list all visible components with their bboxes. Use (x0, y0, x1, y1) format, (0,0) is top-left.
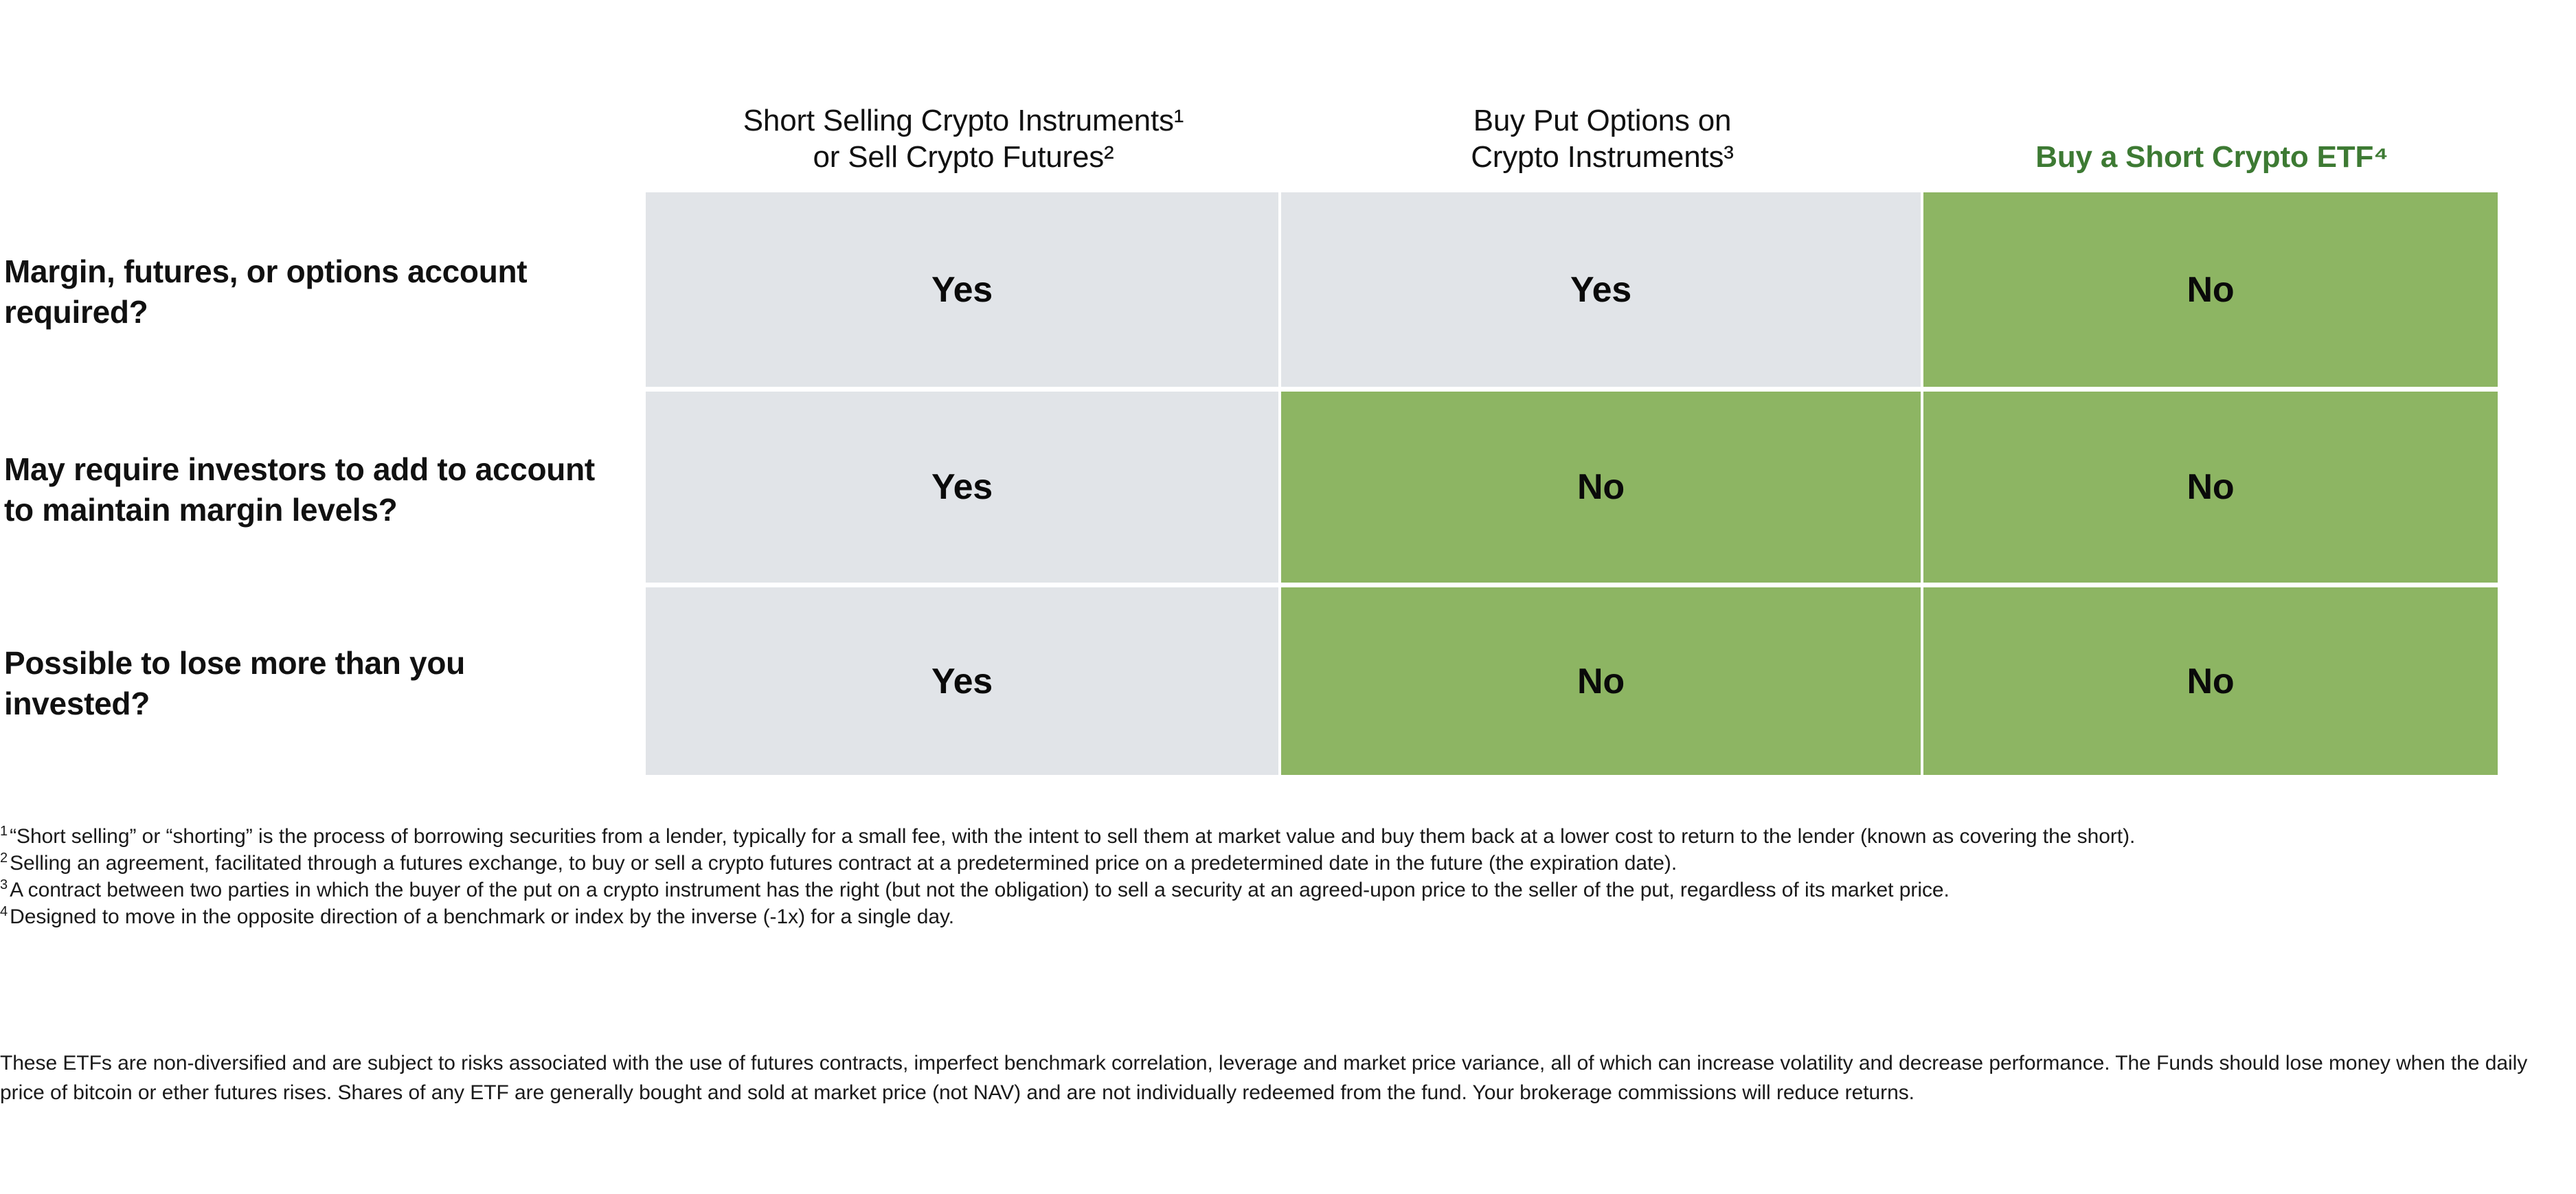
table-cell: No (1923, 192, 2498, 387)
row-label-text: May require investors to add to account … (4, 449, 605, 530)
row-label-account-required: Margin, futures, or options account requ… (0, 192, 646, 392)
table-grid: Short Selling Crypto Instruments¹ or Sel… (0, 0, 2500, 780)
row-label-text: Possible to lose more than you invested? (4, 643, 605, 724)
table-cell: No (1923, 392, 2498, 583)
cell-value: Yes (931, 466, 993, 508)
cell-value: Yes (1570, 269, 1631, 311)
disclaimer-paragraph: These ETFs are non-diversified and are s… (0, 1049, 2555, 1107)
footnote-text: Selling an agreement, facilitated throug… (10, 852, 1677, 875)
cell-value: No (2187, 466, 2235, 508)
row-label-add-to-account: May require investors to add to account … (0, 392, 646, 587)
column-header-put-options: Buy Put Options on Crypto Instruments³ (1281, 0, 1923, 192)
table-cell: Yes (646, 587, 1278, 775)
table-cell: Yes (646, 392, 1278, 583)
footnote-item: 1“Short selling” or “shorting” is the pr… (0, 823, 2576, 850)
cell-value: No (1577, 466, 1625, 508)
table-cell: No (1281, 587, 1921, 775)
row-label-lose-more: Possible to lose more than you invested? (0, 587, 646, 780)
column-header-label: Short Selling Crypto Instruments¹ or Sel… (743, 102, 1184, 176)
footnote-text: “Short selling” or “shorting” is the pro… (10, 825, 2135, 848)
row-label-text: Margin, futures, or options account requ… (4, 251, 605, 333)
cell-value: No (1577, 661, 1625, 702)
column-header-label: Buy a Short Crypto ETF⁴ (2035, 139, 2388, 176)
footnote-marker: 1 (0, 824, 10, 839)
footnote-text: Designed to move in the opposite directi… (10, 905, 954, 928)
cell-value: No (2187, 269, 2235, 311)
footnote-marker: 3 (0, 877, 10, 892)
table-cell: Yes (1281, 192, 1921, 387)
footnote-marker: 2 (0, 851, 10, 866)
footnote-item: 3A contract between two parties in which… (0, 877, 2576, 903)
table-corner-spacer (0, 0, 646, 192)
footnotes-list: 1“Short selling” or “shorting” is the pr… (0, 823, 2576, 930)
table-cell: Yes (646, 192, 1278, 387)
footnote-marker: 4 (0, 904, 10, 919)
footnote-item: 4Designed to move in the opposite direct… (0, 903, 2576, 930)
footnote-item: 2Selling an agreement, facilitated throu… (0, 850, 2576, 877)
table-cell: No (1923, 587, 2498, 775)
column-header-short-selling: Short Selling Crypto Instruments¹ or Sel… (646, 0, 1281, 192)
column-header-label: Buy Put Options on Crypto Instruments³ (1471, 102, 1734, 176)
cell-value: No (2187, 661, 2235, 702)
cell-value: Yes (931, 661, 993, 702)
footnote-text: A contract between two parties in which … (10, 879, 1950, 901)
table-cell: No (1281, 392, 1921, 583)
cell-value: Yes (931, 269, 993, 311)
column-header-short-etf: Buy a Short Crypto ETF⁴ (1923, 0, 2500, 192)
